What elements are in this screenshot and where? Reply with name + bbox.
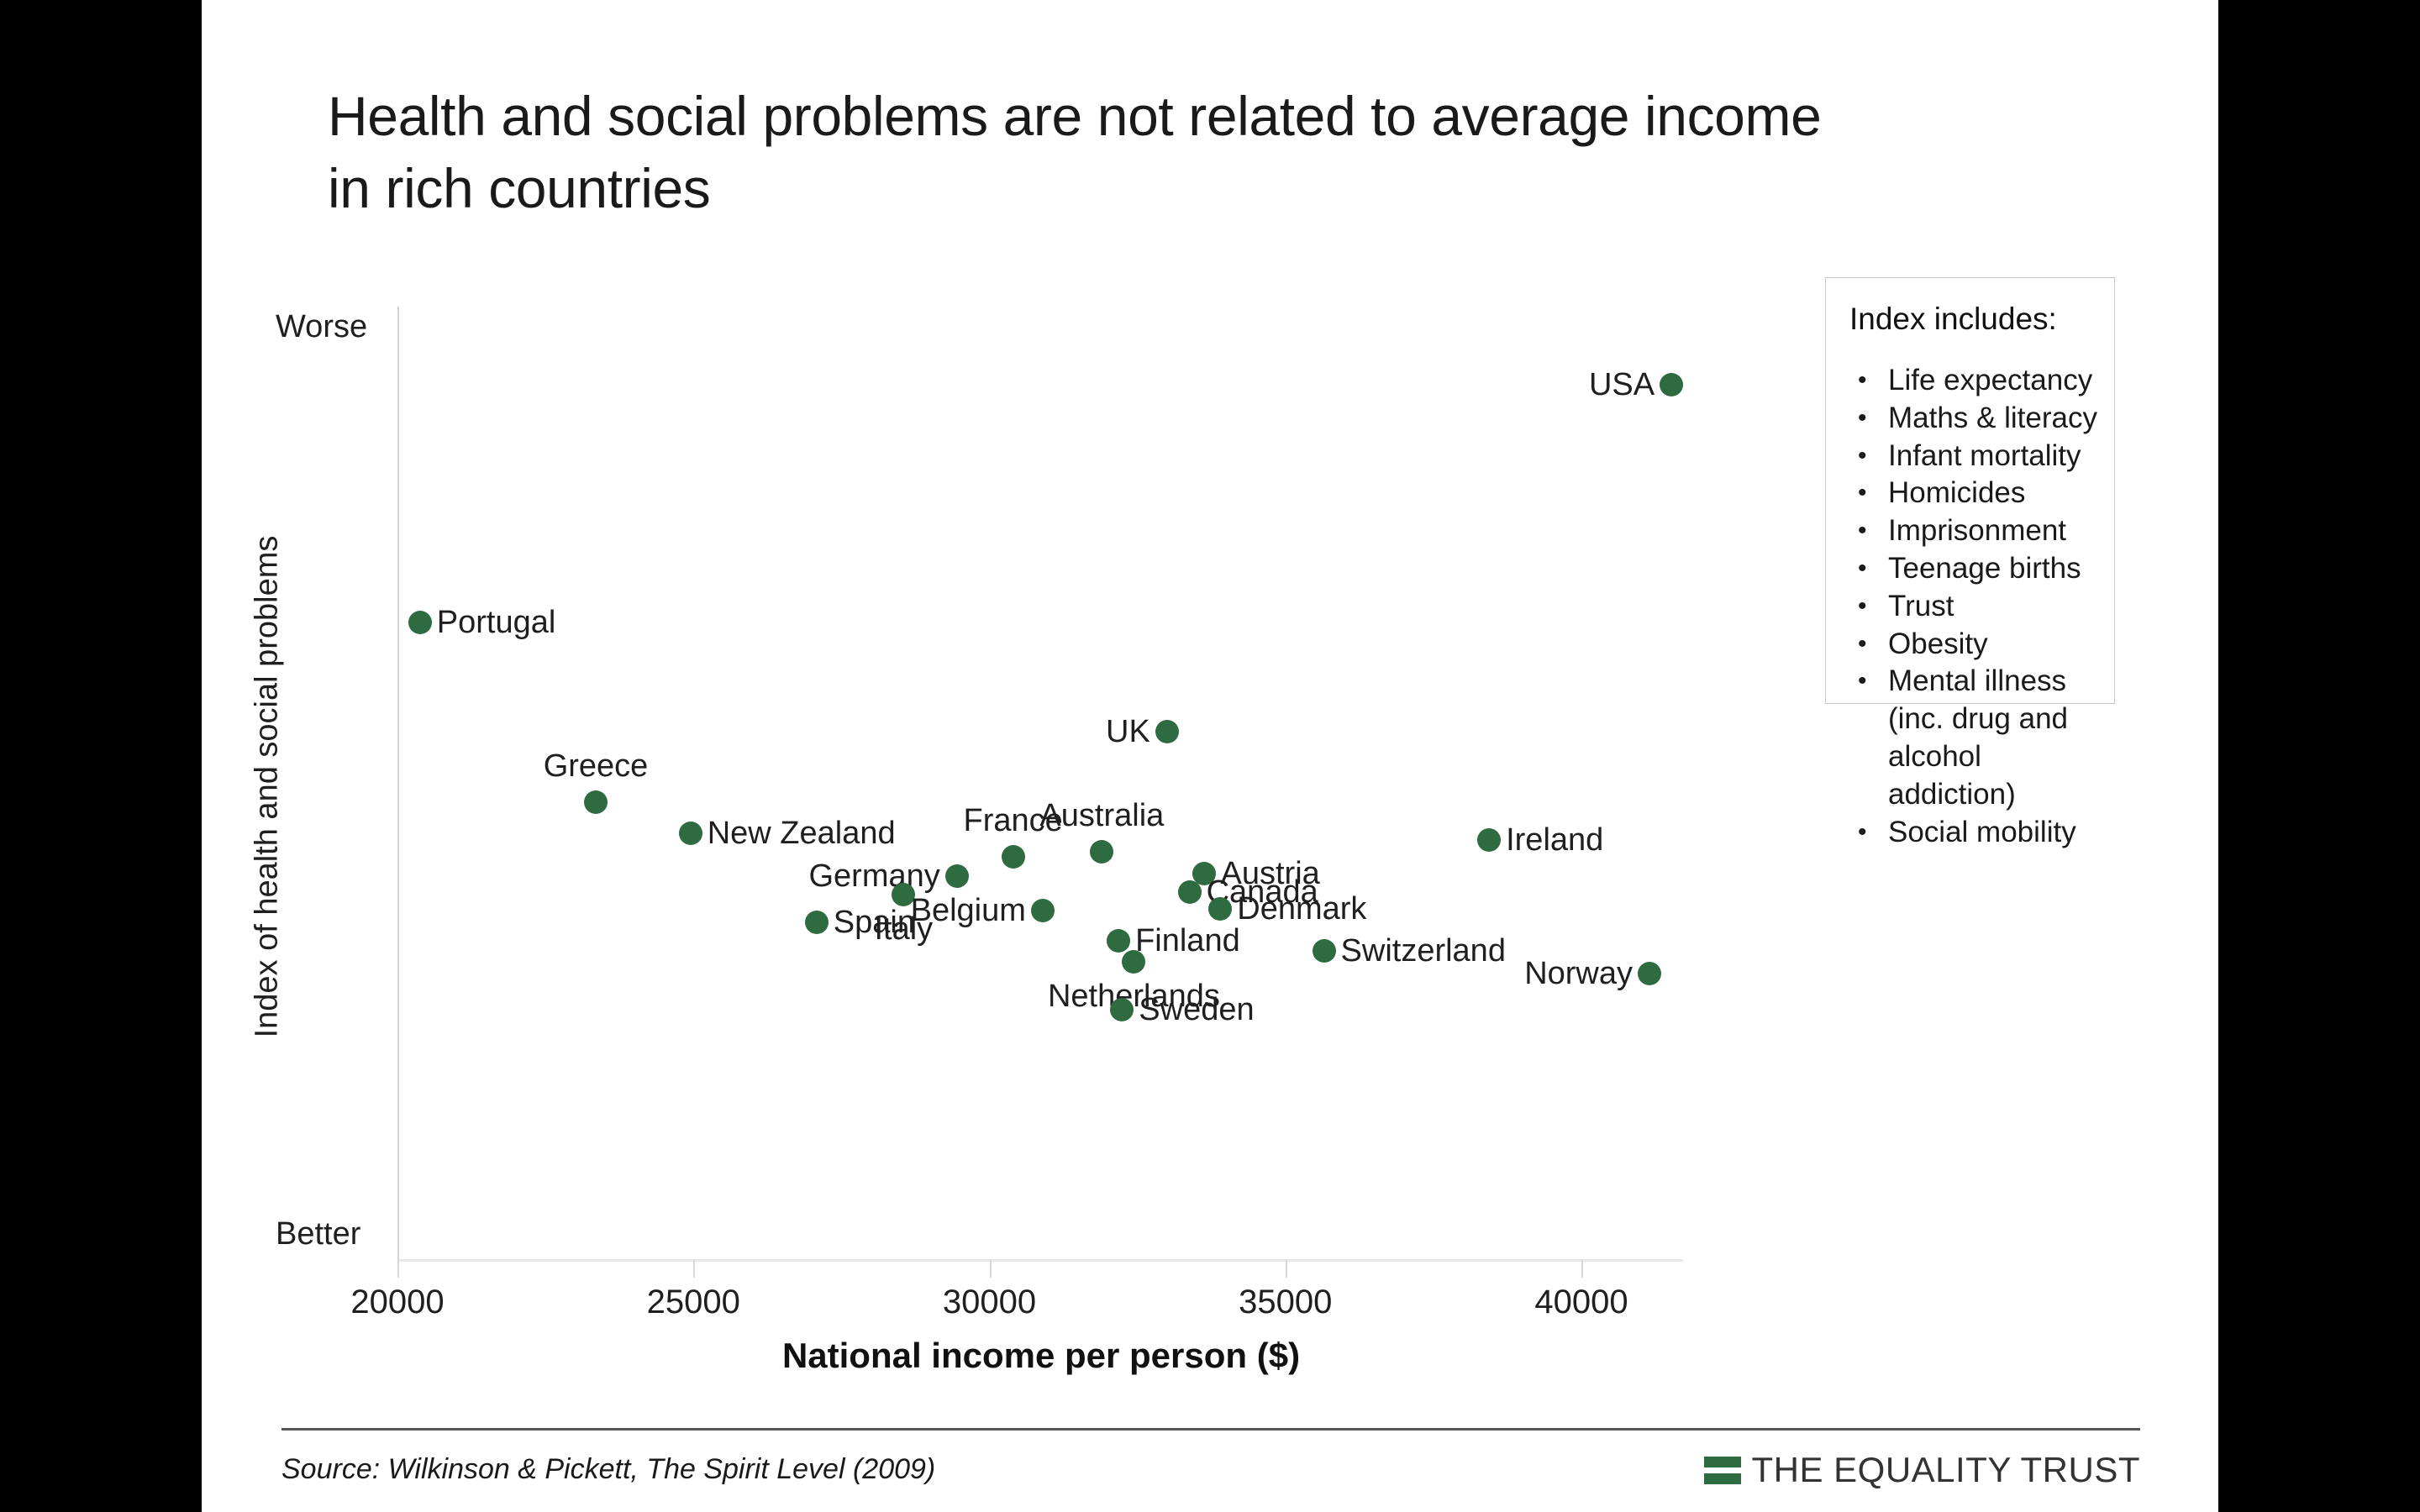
x-axis-tick-label: 40000 (1534, 1284, 1628, 1321)
index-item: Teenage births (1849, 550, 2102, 588)
source-citation: Source: Wilkinson & Pickett, The Spirit … (281, 1453, 935, 1486)
index-item: (inc. drug and (1849, 701, 2102, 738)
screenshot-stage: Health and social problems are not relat… (0, 0, 2420, 1512)
x-axis-tick (693, 1259, 695, 1278)
index-item: alcohol addiction) (1849, 738, 2102, 814)
data-point-france[interactable] (1002, 845, 1025, 869)
x-axis-tick-label: 30000 (943, 1284, 1036, 1321)
data-point-portugal[interactable] (408, 611, 432, 634)
data-point-usa[interactable] (1660, 373, 1683, 396)
x-axis-tick (397, 1259, 399, 1278)
index-panel-title: Index includes: (1849, 302, 2057, 337)
data-point-switzerland[interactable] (1313, 939, 1336, 963)
data-point-sweden[interactable] (1110, 998, 1134, 1021)
logo-wordmark: THE EQUALITY TRUST (1751, 1450, 2140, 1490)
x-axis-line (397, 1259, 1683, 1262)
x-axis-tick (990, 1259, 992, 1278)
index-item: Maths & literacy (1849, 400, 2102, 438)
data-point-ireland[interactable] (1477, 828, 1501, 852)
index-item: Imprisonment (1849, 512, 2102, 550)
data-point-label-switzerland: Switzerland (1341, 935, 1506, 967)
data-point-australia[interactable] (1090, 840, 1113, 864)
data-point-label-spain: Spain (834, 906, 915, 938)
data-point-finland[interactable] (1107, 929, 1130, 953)
index-item: Trust (1849, 588, 2102, 626)
data-point-spain[interactable] (805, 911, 829, 934)
data-point-label-australia: Australia (1039, 800, 1164, 832)
index-item: Infant mortality (1849, 438, 2102, 475)
equals-bars-icon (1704, 1457, 1741, 1484)
index-item: Life expectancy (1849, 362, 2102, 400)
data-point-label-norway: Norway (1524, 958, 1633, 990)
x-axis-tick-label: 35000 (1239, 1284, 1332, 1321)
index-includes-panel: Index includes: Life expectancyMaths & l… (1825, 277, 2115, 704)
data-point-norway[interactable] (1638, 962, 1661, 985)
y-axis-line (397, 307, 399, 1261)
x-axis-title: National income per person ($) (202, 1336, 1881, 1376)
data-point-label-portugal: Portugal (437, 606, 556, 638)
data-point-label-belgium: Belgium (911, 895, 1026, 927)
equality-trust-logo: THE EQUALITY TRUST (1704, 1450, 2140, 1490)
index-item: Obesity (1849, 626, 2102, 664)
data-point-label-finland: Finland (1135, 925, 1240, 957)
x-axis-tick-label: 20000 (350, 1284, 444, 1321)
data-point-label-uk: UK (1106, 716, 1150, 748)
index-item: Social mobility (1849, 814, 2102, 852)
data-point-netherlands[interactable] (1122, 950, 1145, 974)
data-point-denmark[interactable] (1208, 897, 1232, 921)
x-axis-tick (1581, 1259, 1583, 1278)
data-point-new-zealand[interactable] (679, 822, 702, 845)
data-point-label-new-zealand: New Zealand (708, 817, 896, 849)
data-point-uk[interactable] (1155, 720, 1179, 743)
data-point-label-ireland: Ireland (1506, 824, 1603, 856)
data-point-belgium[interactable] (1031, 899, 1055, 922)
y-axis-top-label: Worse (276, 309, 367, 345)
data-point-canada[interactable] (1178, 880, 1202, 904)
y-axis-bottom-label: Better (276, 1216, 360, 1252)
x-axis-tick-label: 25000 (647, 1284, 740, 1321)
y-axis-title: Index of health and social problems (250, 493, 286, 1081)
data-point-label-denmark: Denmark (1237, 893, 1366, 925)
data-point-label-greece: Greece (544, 750, 649, 782)
data-point-label-usa: USA (1589, 369, 1655, 401)
footer-divider (281, 1428, 2140, 1431)
data-point-germany[interactable] (945, 864, 969, 888)
index-item: Mental illness (1849, 663, 2102, 701)
data-point-label-sweden: Sweden (1139, 994, 1254, 1026)
slide-canvas: Health and social problems are not relat… (202, 0, 2218, 1512)
data-point-greece[interactable] (584, 790, 608, 814)
x-axis-tick (1286, 1259, 1287, 1278)
index-item: Homicides (1849, 475, 2102, 512)
data-point-label-germany: Germany (808, 860, 939, 892)
index-items-list: Life expectancyMaths & literacyInfant mo… (1849, 362, 2102, 851)
